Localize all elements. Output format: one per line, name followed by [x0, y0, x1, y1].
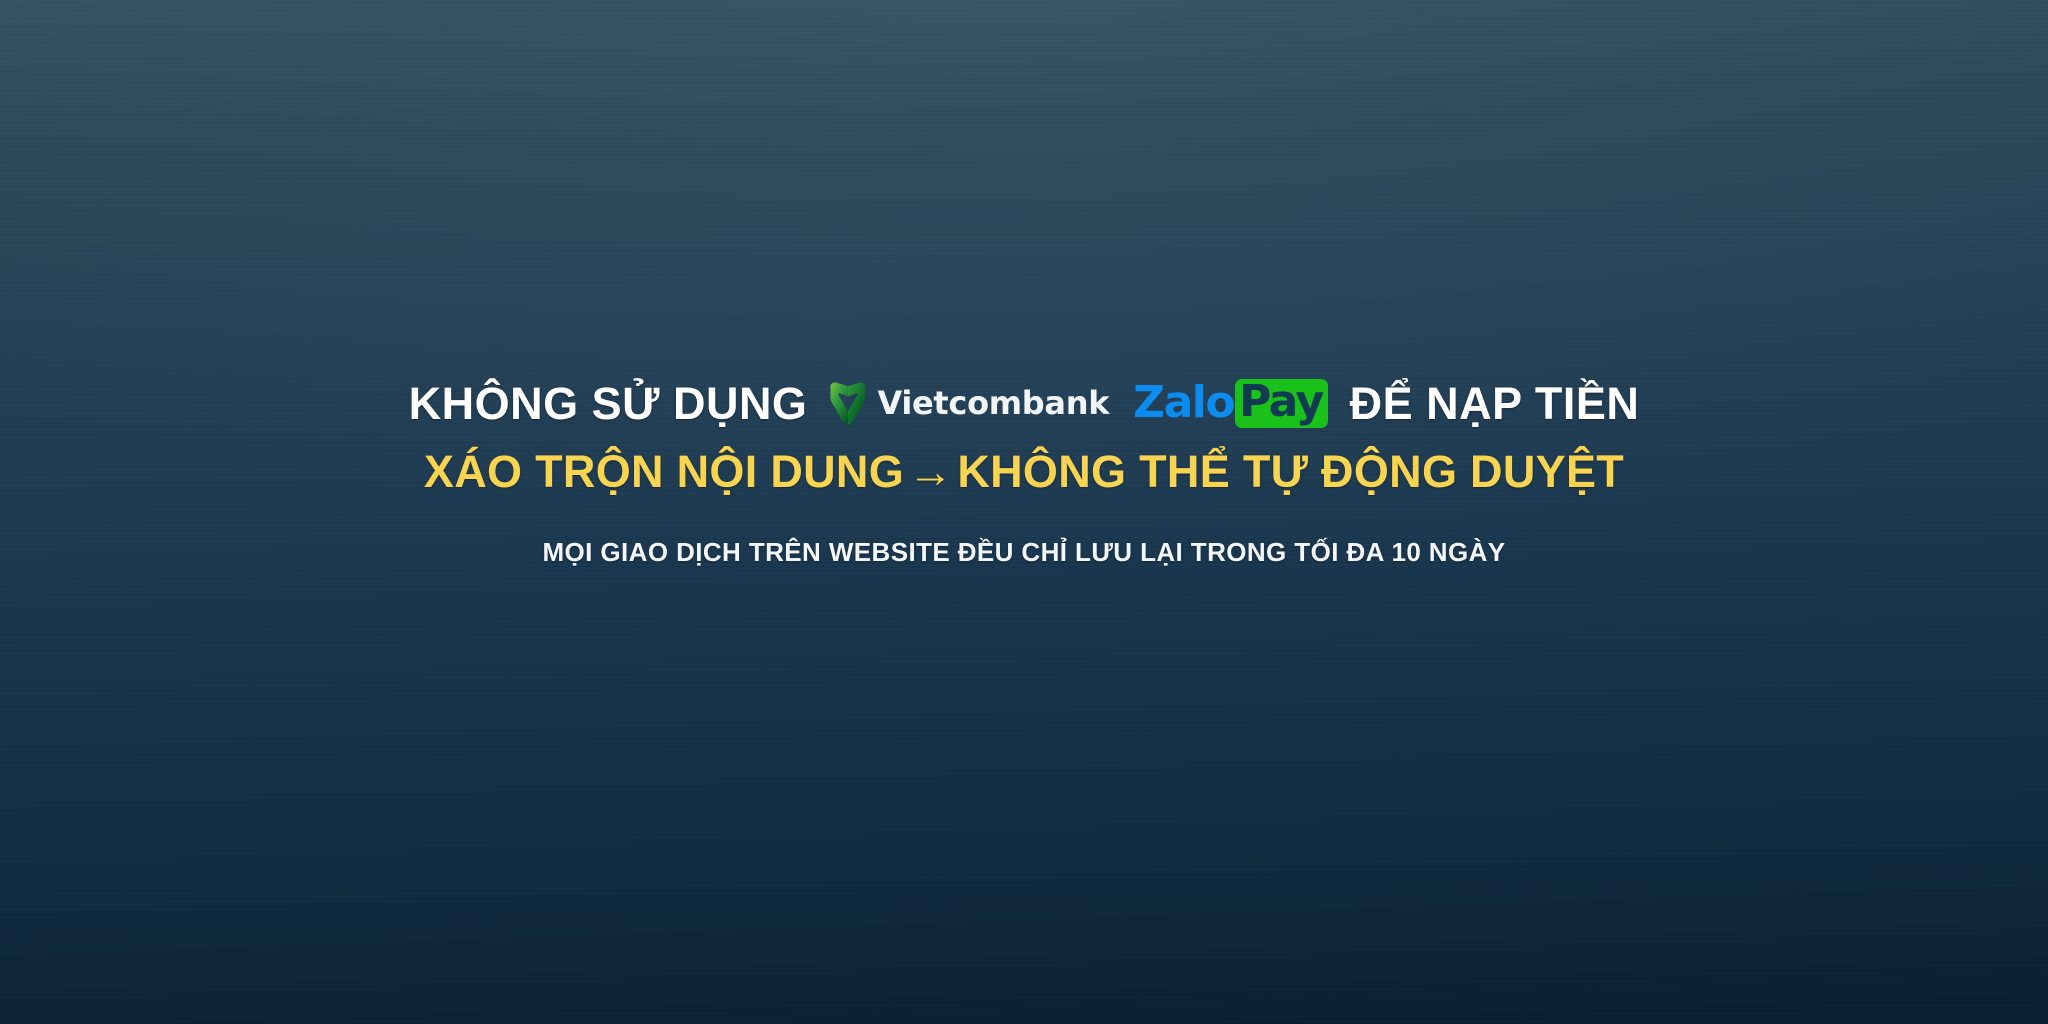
vietcombank-shield-icon [827, 380, 869, 426]
subheadline-before-arrow: XÁO TRỘN NỘI DUNG [424, 446, 904, 497]
headline-row: KHÔNG SỬ DỤNG [409, 372, 1640, 434]
vietcombank-wordmark: Vietcombank [877, 387, 1109, 419]
zalopay-pay-chip: Pay [1235, 379, 1328, 428]
headline-suffix: ĐỂ NẠP TIỀN [1350, 381, 1640, 426]
arrow-right-icon: → [904, 446, 957, 497]
zalopay-zalo-wordmark: Zalo [1133, 381, 1234, 425]
subheadline-after-arrow: KHÔNG THỂ TỰ ĐỘNG DUYỆT [957, 446, 1624, 497]
vietcombank-logo: Vietcombank [827, 380, 1109, 426]
headline-prefix: KHÔNG SỬ DỤNG [409, 381, 808, 426]
warning-banner: KHÔNG SỬ DỤNG [0, 0, 2048, 1024]
subheadline-row: XÁO TRỘN NỘI DUNG→KHÔNG THỂ TỰ ĐỘNG DUYỆ… [424, 448, 1624, 495]
zalopay-logo: Zalo Pay [1133, 379, 1328, 428]
footnote-text: MỌI GIAO DỊCH TRÊN WEBSITE ĐỀU CHỈ LƯU L… [542, 537, 1505, 568]
banner-content: KHÔNG SỬ DỤNG [0, 372, 2048, 568]
